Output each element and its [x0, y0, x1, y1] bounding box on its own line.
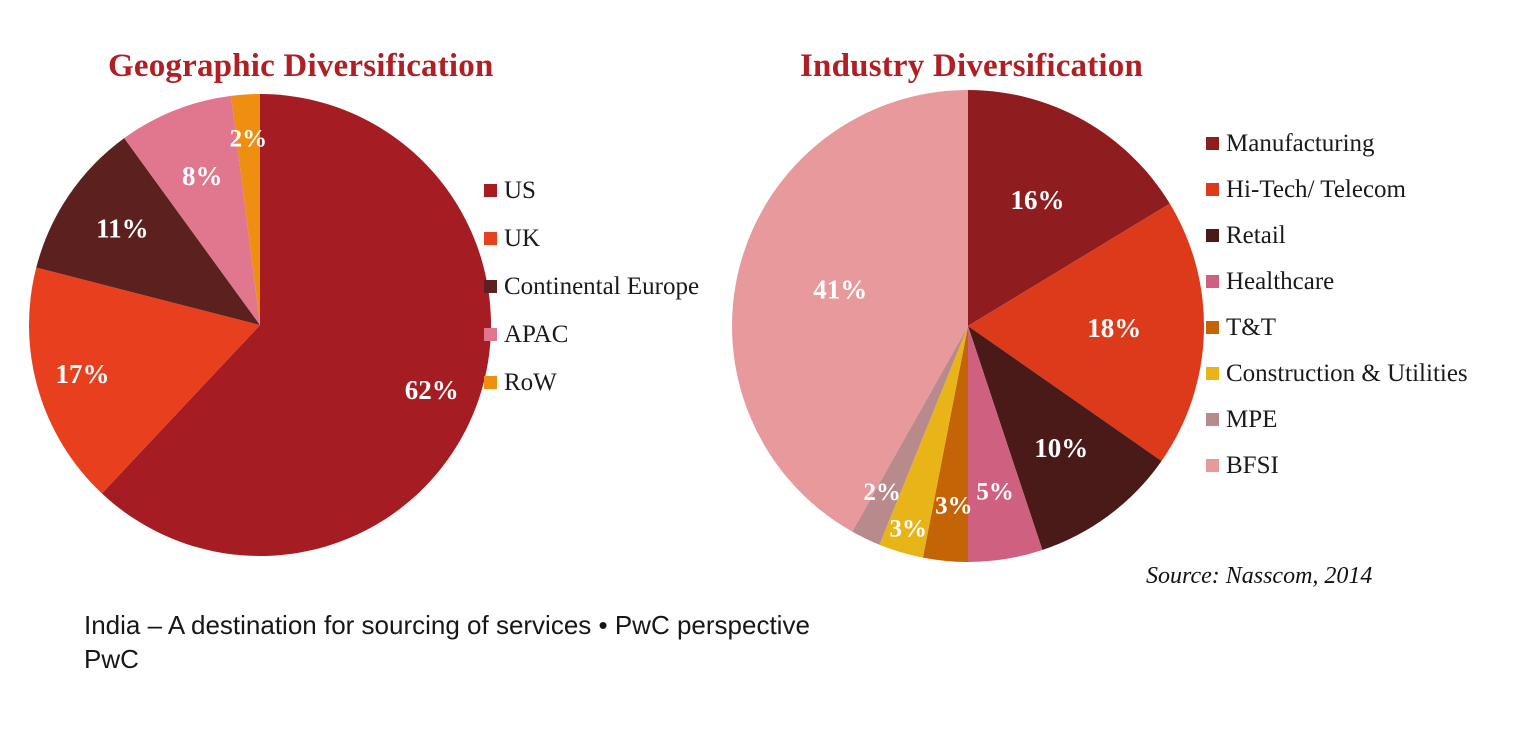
legend-swatch-icon [484, 280, 497, 293]
legend-swatch-icon [1206, 183, 1219, 196]
footer-line-1: India – A destination for sourcing of se… [84, 608, 810, 642]
industry-legend-item[interactable]: Hi-Tech/ Telecom [1206, 166, 1468, 212]
geographic-legend-label: Continental Europe [504, 274, 699, 299]
geographic-legend-label: US [504, 178, 536, 203]
pie-slice-value-label: 18% [1087, 313, 1141, 343]
industry-legend-label: Construction & Utilities [1226, 361, 1468, 386]
geographic-pie-chart: 62%17%11%8%2% [28, 92, 498, 562]
geographic-legend-item[interactable]: Continental Europe [484, 262, 699, 310]
pie-slice-value-label: 10% [1034, 433, 1088, 463]
pie-slice-value-label: 16% [1011, 185, 1065, 215]
legend-swatch-icon [1206, 459, 1219, 472]
industry-legend-label: BFSI [1226, 453, 1279, 478]
industry-legend-label: T&T [1226, 315, 1276, 340]
industry-legend-item[interactable]: Construction & Utilities [1206, 350, 1468, 396]
industry-legend-item[interactable]: Healthcare [1206, 258, 1468, 304]
pie-slice-value-label: 62% [405, 375, 459, 405]
industry-legend-label: Healthcare [1226, 269, 1334, 294]
pie-slice-value-label: 17% [56, 359, 110, 389]
geographic-pie-svg: 62%17%11%8%2% [28, 92, 498, 562]
geographic-legend-label: UK [504, 226, 540, 251]
legend-swatch-icon [484, 376, 497, 389]
legend-swatch-icon [1206, 137, 1219, 150]
geographic-legend-item[interactable]: US [484, 166, 699, 214]
industry-legend-item[interactable]: Retail [1206, 212, 1468, 258]
industry-legend-label: Hi-Tech/ Telecom [1226, 177, 1406, 202]
chart-canvas: Geographic Diversification Industry Dive… [0, 0, 1536, 756]
geographic-pie-slices [29, 94, 491, 556]
pie-slice-value-label: 2% [230, 125, 268, 152]
industry-pie-svg: 16%18%10%5%3%3%2%41% [730, 88, 1210, 568]
legend-swatch-icon [1206, 367, 1219, 380]
industry-legend-label: Manufacturing [1226, 131, 1375, 156]
geographic-legend: USUKContinental EuropeAPACRoW [484, 166, 699, 406]
footer-block: India – A destination for sourcing of se… [84, 608, 810, 677]
legend-swatch-icon [1206, 321, 1219, 334]
industry-legend-label: Retail [1226, 223, 1286, 248]
industry-chart-title: Industry Diversification [800, 48, 1143, 85]
industry-legend-item[interactable]: BFSI [1206, 442, 1468, 488]
pie-slice-value-label: 41% [813, 275, 867, 305]
footer-line-2: PwC [84, 642, 810, 676]
industry-legend-label: MPE [1226, 407, 1277, 432]
geographic-chart-title: Geographic Diversification [108, 48, 494, 85]
geographic-legend-label: APAC [504, 322, 568, 347]
pie-slice-value-label: 5% [976, 478, 1014, 505]
pie-slice-value-label: 8% [182, 161, 223, 191]
industry-pie-chart: 16%18%10%5%3%3%2%41% [730, 88, 1210, 568]
industry-legend: ManufacturingHi-Tech/ TelecomRetailHealt… [1206, 120, 1468, 488]
legend-swatch-icon [484, 232, 497, 245]
legend-swatch-icon [484, 184, 497, 197]
industry-legend-item[interactable]: MPE [1206, 396, 1468, 442]
legend-swatch-icon [1206, 229, 1219, 242]
legend-swatch-icon [1206, 275, 1219, 288]
geographic-legend-item[interactable]: RoW [484, 358, 699, 406]
geographic-legend-item[interactable]: APAC [484, 310, 699, 358]
pie-slice-value-label: 2% [863, 479, 901, 506]
industry-legend-item[interactable]: Manufacturing [1206, 120, 1468, 166]
pie-slice-value-label: 11% [96, 214, 149, 244]
pie-slice-value-label: 3% [935, 493, 973, 520]
source-note: Source: Nasscom, 2014 [1146, 563, 1372, 590]
legend-swatch-icon [1206, 413, 1219, 426]
legend-swatch-icon [484, 328, 497, 341]
geographic-legend-item[interactable]: UK [484, 214, 699, 262]
geographic-legend-label: RoW [504, 370, 557, 395]
pie-slice-value-label: 3% [890, 515, 928, 542]
industry-legend-item[interactable]: T&T [1206, 304, 1468, 350]
